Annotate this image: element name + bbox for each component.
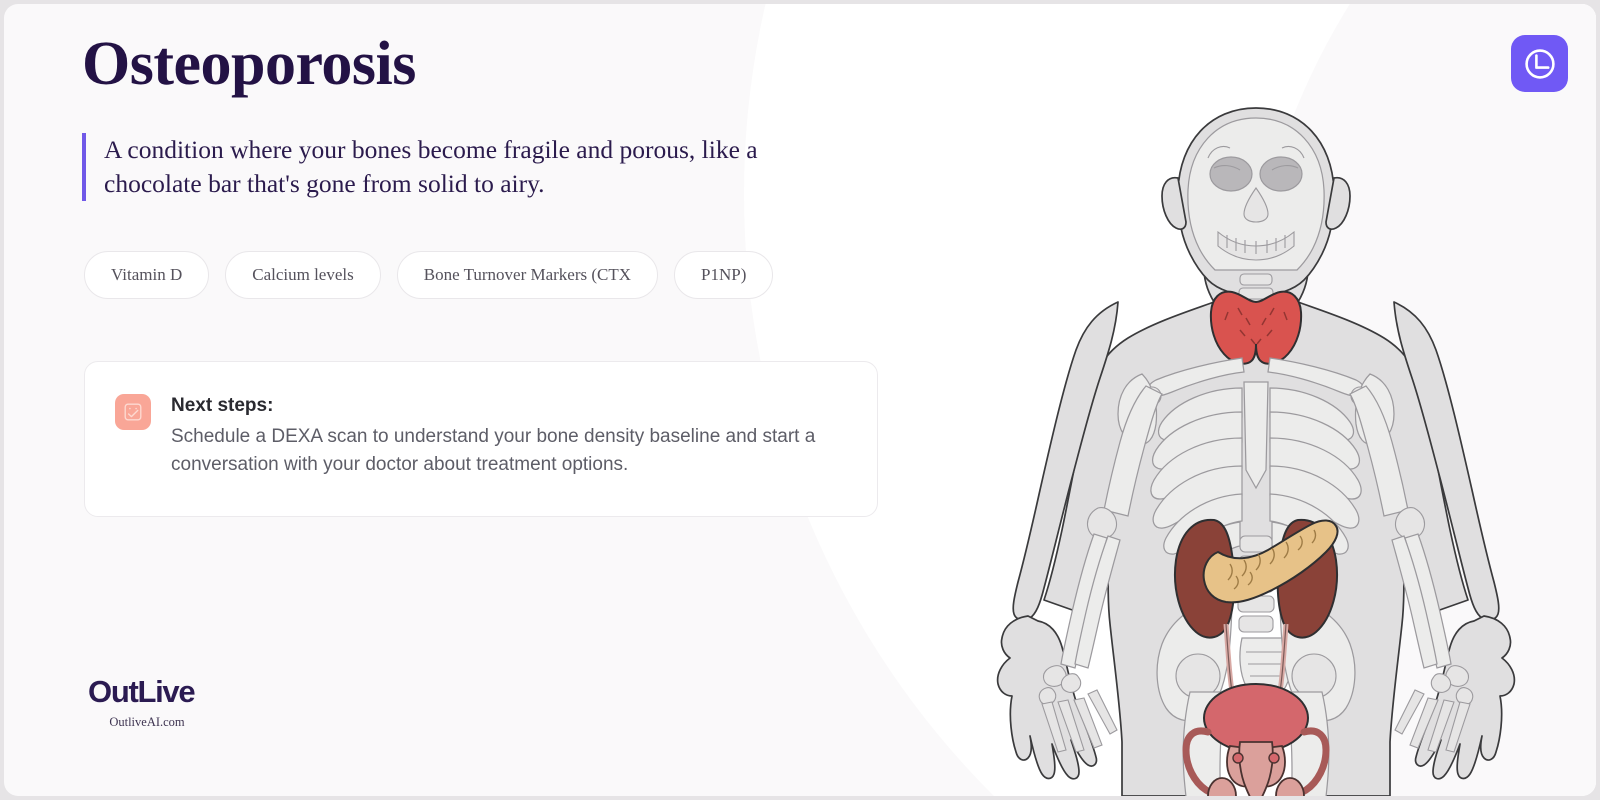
- footer-website: OutliveAI.com: [91, 715, 203, 730]
- clipboard-check-glyph: [122, 401, 144, 423]
- outlive-wordmark: OutLive: [88, 676, 308, 707]
- next-steps-card: Next steps: Schedule a DEXA scan to unde…: [84, 361, 878, 517]
- next-steps-heading: Next steps:: [171, 392, 849, 420]
- biomarker-pill-bone-turnover-markers[interactable]: Bone Turnover Markers (CTX: [397, 251, 658, 299]
- subtitle-block: A condition where your bones become frag…: [82, 133, 842, 201]
- anatomy-svg: .bfill{fill:#e0dfe0;stroke:#3a3a3c;strok…: [946, 96, 1566, 796]
- biomarker-pill-calcium-levels[interactable]: Calcium levels: [225, 251, 381, 299]
- content-column: Osteoporosis A condition where your bone…: [4, 4, 924, 796]
- biomarker-pill-p1np[interactable]: P1NP): [674, 251, 773, 299]
- outlive-circle-l-logo-icon: [1522, 46, 1558, 82]
- footer-branding: OutLive OutliveAI.com: [88, 676, 308, 730]
- subtitle-text: A condition where your bones become frag…: [104, 133, 842, 201]
- poster-page: .bfill{fill:#e0dfe0;stroke:#3a3a3c;strok…: [4, 4, 1596, 796]
- biomarker-pill-vitamin-d[interactable]: Vitamin D: [84, 251, 209, 299]
- biomarker-pill-row: Vitamin D Calcium levels Bone Turnover M…: [84, 251, 773, 299]
- clipboard-check-icon: [115, 394, 151, 430]
- brand-badge[interactable]: [1511, 35, 1568, 92]
- next-steps-body: Next steps: Schedule a DEXA scan to unde…: [171, 392, 849, 486]
- next-steps-text: Schedule a DEXA scan to understand your …: [171, 423, 849, 480]
- thyroid-organ: [1211, 292, 1301, 364]
- anatomy-illustration: .bfill{fill:#e0dfe0;stroke:#3a3a3c;strok…: [946, 96, 1566, 796]
- page-title: Osteoporosis: [82, 30, 416, 99]
